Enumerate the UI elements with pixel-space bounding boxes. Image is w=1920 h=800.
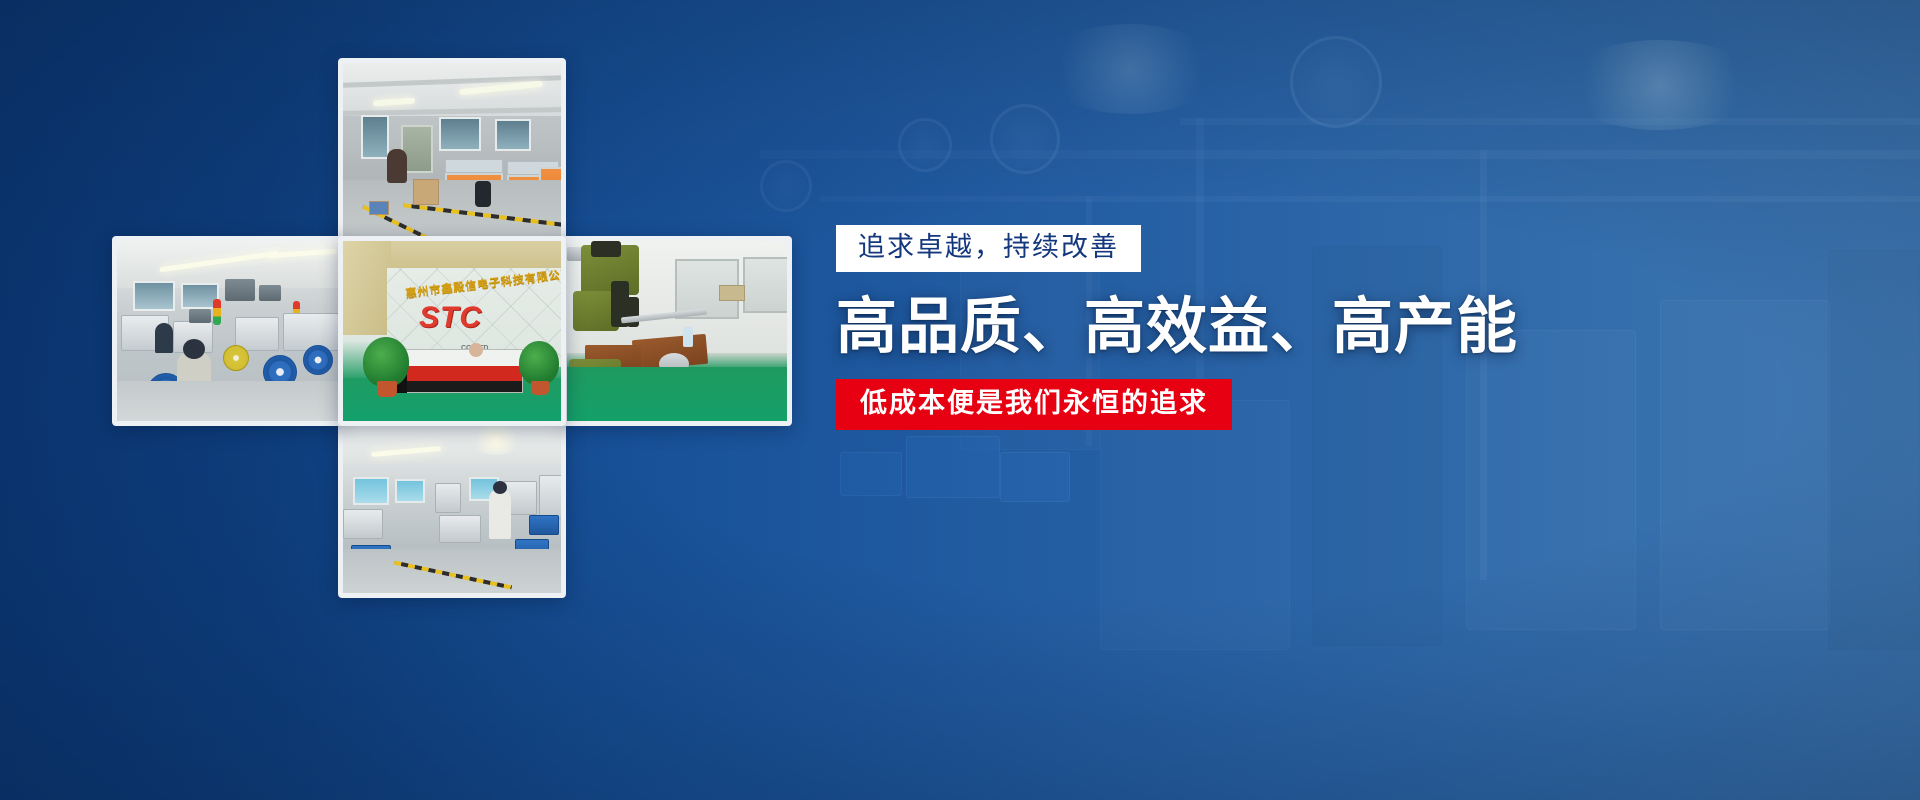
collage-photo-bottom xyxy=(338,418,566,598)
tagline-box: 追求卓越，持续改善 xyxy=(836,225,1141,272)
collage-photo-center: 惠州市鑫殿信电子科技有限公司 STC CO. LTD xyxy=(338,236,566,426)
collage-photo-top xyxy=(338,58,566,246)
headline-text: 高品质、高效益、高产能 xyxy=(836,294,1396,359)
stc-logo: STC xyxy=(419,301,482,335)
collage-photo-left xyxy=(112,236,344,426)
subbanner-text: 低成本便是我们永恒的追求 xyxy=(860,390,1208,417)
subbanner-box: 低成本便是我们永恒的追求 xyxy=(836,379,1232,430)
banner-copy: 追求卓越，持续改善 高品质、高效益、高产能 低成本便是我们永恒的追求 xyxy=(836,225,1396,430)
hero-banner: 惠州市鑫殿信电子科技有限公司 STC CO. LTD xyxy=(0,0,1920,800)
tagline-text: 追求卓越，持续改善 xyxy=(858,234,1119,261)
collage-photo-right xyxy=(562,236,792,426)
photo-collage: 惠州市鑫殿信电子科技有限公司 STC CO. LTD xyxy=(112,58,792,598)
